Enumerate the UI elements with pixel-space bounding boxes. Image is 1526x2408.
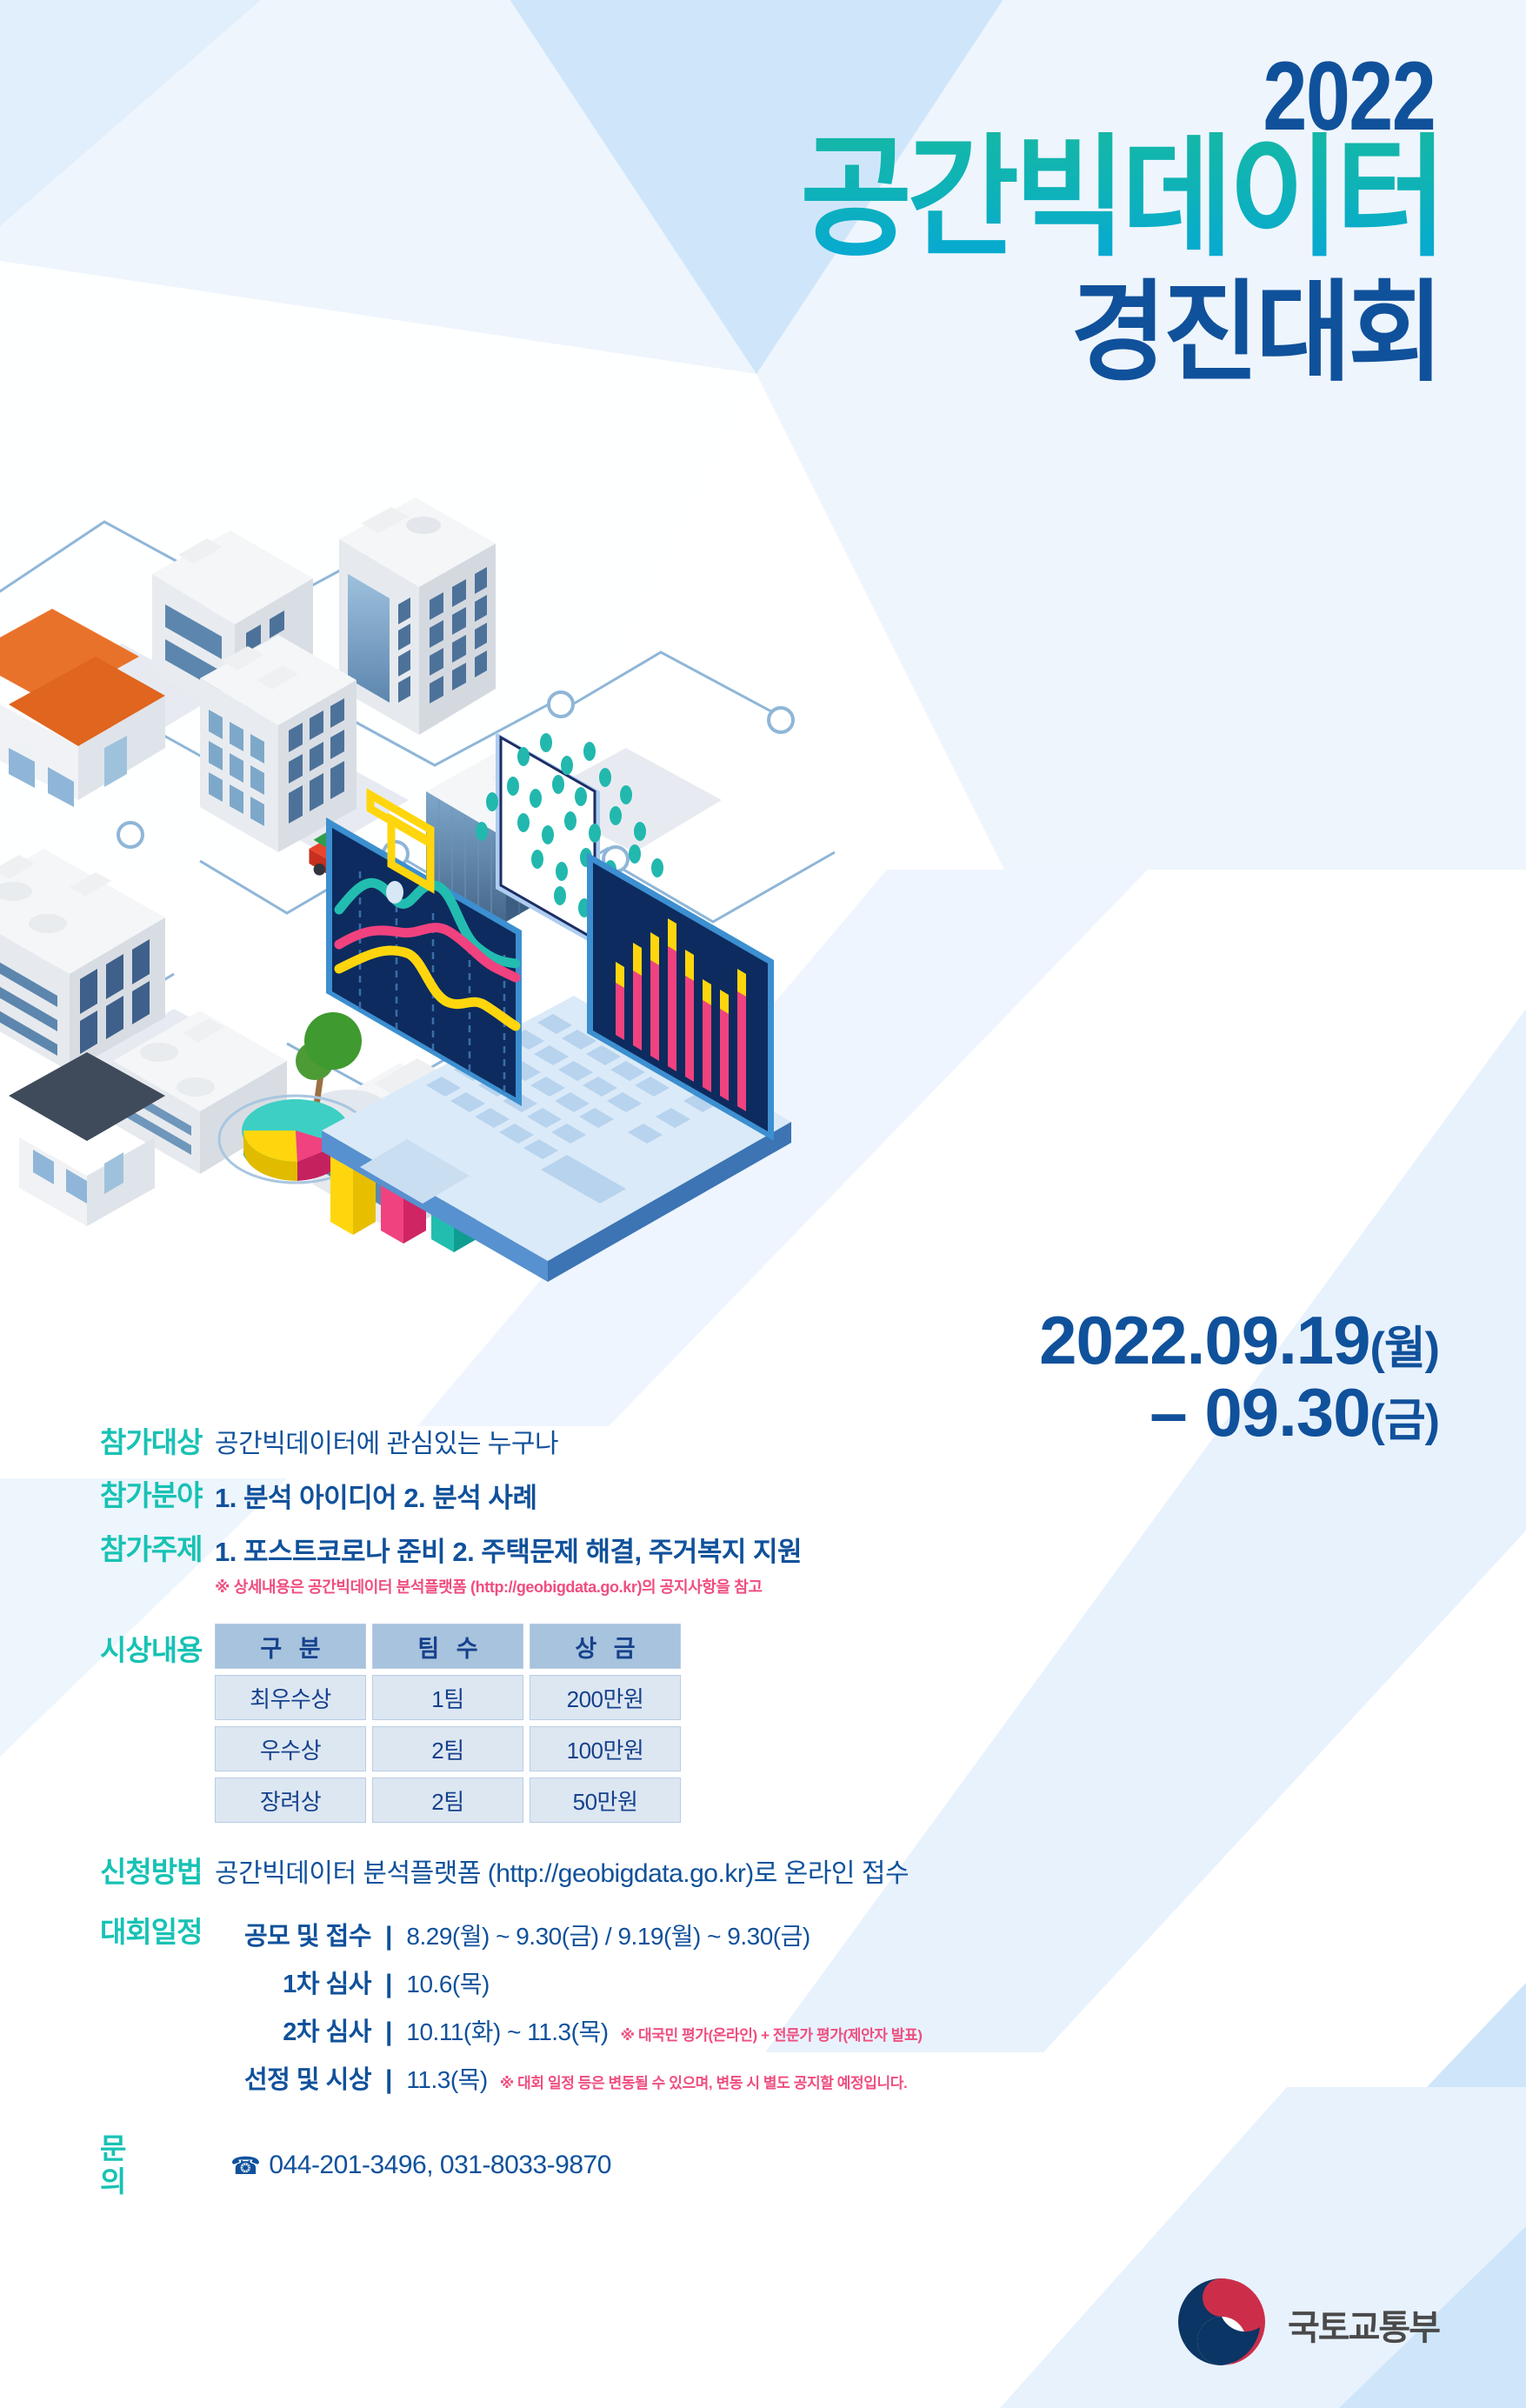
value-topic: 1. 포스트코로나 준비 2. 주택문제 해결, 주거복지 지원 <box>215 1533 802 1568</box>
label-prize: 시상내용 <box>100 1624 215 1667</box>
label-field: 참가분야 <box>100 1479 215 1512</box>
prize-cell-amount: 100만원 <box>530 1726 681 1771</box>
event-date-start-day: (월) <box>1370 1324 1439 1374</box>
info-row-contact: 문 의 ☎ 044-201-3496, 031-8033-9870 <box>0 2132 1526 2198</box>
list-item: 1차 심사 | 10.6(목) <box>215 1964 923 2000</box>
event-date-line-1: 2022.09.19(월) <box>1039 1304 1439 1377</box>
prize-cell-category: 장려상 <box>215 1778 366 1823</box>
prize-header-amount: 상 금 <box>530 1624 681 1669</box>
schedule-name: 2차 심사 <box>215 2011 371 2048</box>
contact-phone-number: 044-201-3496, 031-8033-9870 <box>269 2151 611 2180</box>
prize-cell-teams: 1팀 <box>372 1675 523 1720</box>
schedule-annotation: ※ 대회 일정 등은 변동될 수 있으며, 변동 시 별도 공지할 예정입니다. <box>500 2071 908 2092</box>
table-row: 장려상 2팀 50만원 <box>215 1778 681 1823</box>
value-apply: 공간빅데이터 분석플랫폼 (http://geobigdata.go.kr)로 … <box>215 1856 909 1890</box>
telephone-icon: ☎ <box>230 2151 260 2180</box>
info-row-topic: 참가주제 1. 포스트코로나 준비 2. 주택문제 해결, 주거복지 지원 ※ … <box>0 1533 1526 1598</box>
label-contact: 문 의 <box>100 2132 230 2198</box>
event-date-start: 2022.09.19 <box>1039 1302 1369 1378</box>
value-field: 1. 분석 아이디어 2. 분석 사례 <box>215 1479 536 1514</box>
info-row-target: 참가대상 공간빅데이터에 관심있는 누구나 <box>0 1426 1526 1460</box>
schedule-name: 공모 및 접수 <box>215 1916 371 1952</box>
schedule-value: 10.6(목) <box>406 1965 489 2000</box>
prize-table-header-row: 구 분 팀 수 상 금 <box>215 1624 681 1669</box>
prize-header-teams: 팀 수 <box>372 1624 523 1669</box>
schedule-name: 1차 심사 <box>215 1964 371 2000</box>
prize-cell-teams: 2팀 <box>372 1726 523 1771</box>
schedule-value: 8.29(월) ~ 9.30(금) / 9.19(월) ~ 9.30(금) <box>406 1918 810 1952</box>
info-row-prize: 시상내용 구 분 팀 수 상 금 최우수상 1팀 200만원 우수상 2팀 10… <box>0 1624 1526 1823</box>
page-title: 공간빅데이터 <box>800 132 1443 264</box>
table-row: 우수상 2팀 100만원 <box>215 1726 681 1771</box>
ministry-logo-block: 국토교통부 <box>1175 2275 1439 2373</box>
schedule-annotation: ※ 대국민 평가(온라인) + 전문가 평가(제안자 발표) <box>621 2023 923 2044</box>
list-item: 선정 및 시상 | 11.3(목) ※ 대회 일정 등은 변동될 수 있으며, … <box>215 2059 923 2096</box>
label-schedule: 대회일정 <box>100 1916 215 1949</box>
contact-phone: ☎ 044-201-3496, 031-8033-9870 <box>230 2151 611 2180</box>
schedule-divider: | <box>385 1970 392 1999</box>
prize-cell-category: 최우수상 <box>215 1675 366 1720</box>
prize-cell-category: 우수상 <box>215 1726 366 1771</box>
prize-header-category: 구 분 <box>215 1624 366 1669</box>
table-row: 최우수상 1팀 200만원 <box>215 1675 681 1720</box>
schedule-divider: | <box>385 1922 392 1951</box>
prize-table: 구 분 팀 수 상 금 최우수상 1팀 200만원 우수상 2팀 100만원 장… <box>215 1624 681 1823</box>
value-target: 공간빅데이터에 관심있는 누구나 <box>215 1426 558 1460</box>
ministry-name: 국토교통부 <box>1288 2299 1439 2350</box>
schedule-value: 10.11(화) ~ 11.3(목) <box>406 2013 608 2048</box>
isometric-city-illustration <box>0 487 956 1296</box>
note-topic: ※ 상세내용은 공간빅데이터 분석플랫폼 (http://geobigdata.… <box>215 1575 802 1598</box>
schedule-name: 선정 및 시상 <box>215 2059 371 2096</box>
schedule-value: 11.3(목) <box>406 2061 487 2096</box>
list-item: 공모 및 접수 | 8.29(월) ~ 9.30(금) / 9.19(월) ~ … <box>215 1916 923 1952</box>
info-row-apply: 신청방법 공간빅데이터 분석플랫폼 (http://geobigdata.go.… <box>0 1856 1526 1890</box>
label-target: 참가대상 <box>100 1426 215 1459</box>
info-row-field: 참가분야 1. 분석 아이디어 2. 분석 사례 <box>0 1479 1526 1514</box>
schedule-divider: | <box>385 2065 392 2095</box>
poster-canvas: 2022 공간빅데이터 경진대회 <box>0 0 1526 2408</box>
schedule-list: 공모 및 접수 | 8.29(월) ~ 9.30(금) / 9.19(월) ~ … <box>215 1916 923 2096</box>
prize-cell-amount: 200만원 <box>530 1675 681 1720</box>
info-row-schedule: 대회일정 공모 및 접수 | 8.29(월) ~ 9.30(금) / 9.19(… <box>0 1916 1526 2096</box>
korea-government-taegeuk-logo-icon <box>1175 2275 1269 2373</box>
label-topic: 참가주제 <box>100 1533 215 1566</box>
schedule-divider: | <box>385 2018 392 2047</box>
prize-cell-amount: 50만원 <box>530 1778 681 1823</box>
list-item: 2차 심사 | 10.11(화) ~ 11.3(목) ※ 대국민 평가(온라인)… <box>215 2011 923 2048</box>
label-apply: 신청방법 <box>100 1856 215 1889</box>
prize-cell-teams: 2팀 <box>372 1778 523 1823</box>
info-section: 참가대상 공간빅데이터에 관심있는 누구나 참가분야 1. 분석 아이디어 2.… <box>0 1426 1526 2198</box>
page-subtitle: 경진대회 <box>1071 278 1441 388</box>
